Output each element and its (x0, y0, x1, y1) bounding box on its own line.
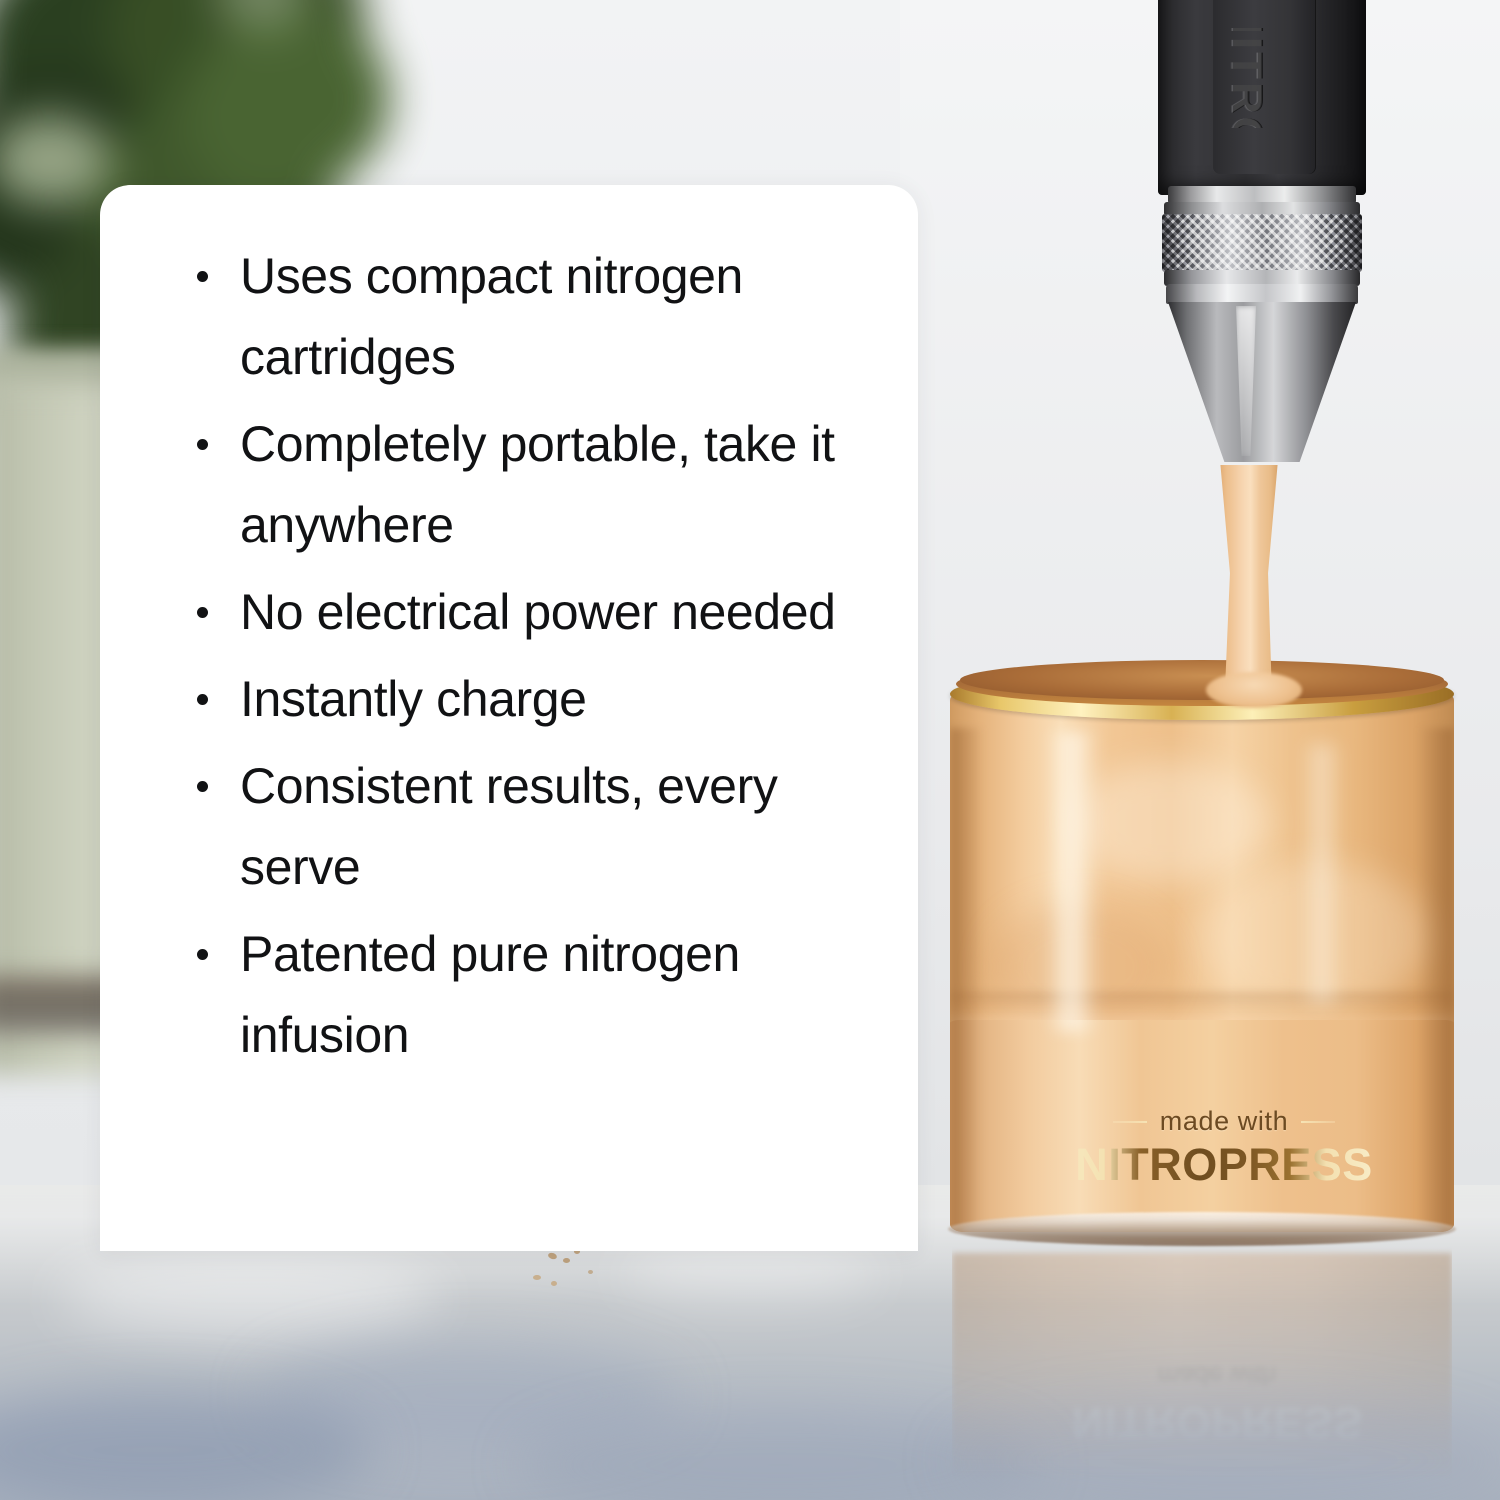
crema-swirl (1070, 762, 1270, 882)
coffee-surface (960, 660, 1444, 700)
countertop-reflection (60, 1255, 440, 1335)
glass-base-section (950, 1020, 1454, 1232)
coffee-ground-speck (533, 1275, 541, 1280)
feature-bullet-item: Patented pure nitrogen infusion (192, 914, 892, 1076)
glass-body (950, 692, 1454, 1232)
pour-splash (1206, 672, 1302, 708)
glass-highlight-left (1046, 732, 1098, 1032)
feature-bullet-list: Uses compact nitrogen cartridges Complet… (192, 236, 892, 1082)
coffee-ground-speck (588, 1270, 593, 1274)
nitro-dispenser: NITRO (1140, 0, 1440, 510)
reflected-brand-tagline: made with (1072, 1360, 1362, 1391)
glass-reflection: NITROPRESS made with (952, 1243, 1452, 1493)
coffee-ground-speck (551, 1281, 557, 1286)
feature-bullet-item: Consistent results, every serve (192, 746, 892, 908)
glass-reflection-branding: NITROPRESS made with (1072, 1360, 1362, 1447)
glass-edge-shading-right (1418, 728, 1454, 1232)
feature-bullet-item: Completely portable, take it anywhere (192, 404, 892, 566)
product-marketing-image: NITROPRESS made with (0, 0, 1500, 1500)
coffee-ground-speck (563, 1258, 570, 1263)
feature-bullet-item: No electrical power needed (192, 572, 892, 653)
feature-bullet-item: Instantly charge (192, 659, 892, 740)
nitro-coffee-glass: made with NITROPRESS (944, 660, 1460, 1260)
feature-bullet-item: Uses compact nitrogen cartridges (192, 236, 892, 398)
dispenser-nozzle-cone (1168, 302, 1356, 462)
glass-edge-shading-left (950, 728, 984, 1232)
feature-list-card: Uses compact nitrogen cartridges Complet… (100, 185, 918, 1251)
glass-bottom-lip-inner (962, 1216, 1442, 1242)
reflected-brand-name: NITROPRESS (1072, 1397, 1362, 1447)
chrome-ring-lower-2 (1166, 284, 1358, 304)
glass-highlight-right (1302, 744, 1342, 1004)
knurled-collar (1162, 214, 1362, 272)
dispenser-handle-embossed-text: NITRO (1156, 28, 1336, 128)
